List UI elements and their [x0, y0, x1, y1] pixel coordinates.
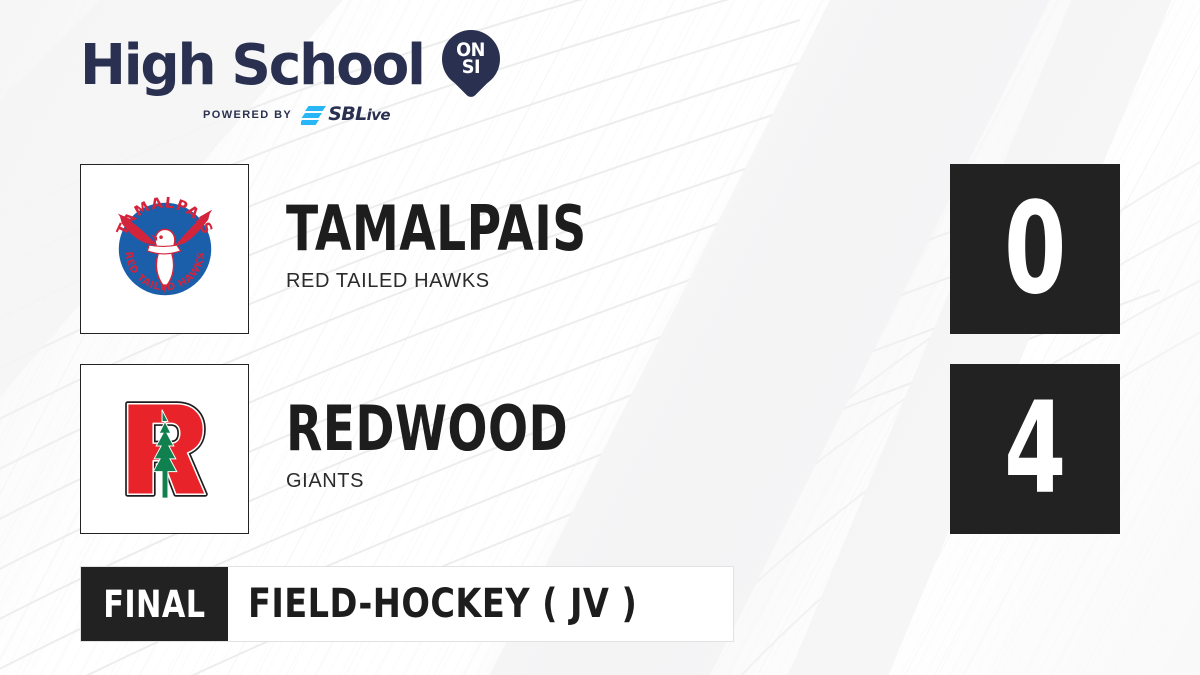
- scoreboard-graphic: High School ON SI POWERED BY SBLive: [0, 0, 1200, 675]
- brand-title-row: High School ON SI: [80, 34, 510, 98]
- brand-header: High School ON SI POWERED BY SBLive: [80, 34, 510, 134]
- team-info: REDWOOD GIANTS: [286, 396, 639, 492]
- pin-label-group: ON SI: [442, 30, 500, 88]
- team-score-box: 0: [950, 164, 1120, 334]
- tamalpais-red-tailed-hawks-logo: TAMALPAIS RED TAILED HAWKS: [106, 190, 224, 308]
- pin-label-si: SI: [462, 59, 480, 76]
- team-score: 4: [1004, 386, 1066, 512]
- status-badge: FINAL: [81, 567, 228, 641]
- powered-by-label: POWERED BY: [203, 109, 292, 121]
- sblive-word-main: SBL: [328, 103, 366, 125]
- status-badge-label: FINAL: [103, 586, 205, 623]
- team-name: REDWOOD: [286, 396, 568, 462]
- team-info: TAMALPAIS RED TAILED HAWKS: [286, 196, 662, 292]
- team-score: 0: [1004, 186, 1066, 312]
- team-score-box: 4: [950, 364, 1120, 534]
- team-logo-card: TAMALPAIS RED TAILED HAWKS: [80, 164, 249, 334]
- redwood-giants-logo: [106, 390, 224, 508]
- on-si-pin-icon: ON SI: [442, 30, 500, 102]
- sblive-s-icon: [301, 106, 327, 125]
- sblive-logo: SBLive: [301, 105, 390, 125]
- team-logo-card: [80, 364, 249, 534]
- powered-by-row: POWERED BY SBLive: [203, 105, 510, 125]
- sblive-word-suffix: ive: [367, 106, 390, 124]
- team-name: TAMALPAIS: [286, 196, 587, 262]
- team-mascot: RED TAILED HAWKS: [286, 270, 662, 292]
- game-status-bar: FINAL FIELD-HOCKEY ( JV ): [80, 566, 734, 642]
- sport-label: FIELD-HOCKEY ( JV ): [248, 584, 637, 624]
- sblive-wordmark: SBLive: [328, 105, 390, 125]
- sport-panel: FIELD-HOCKEY ( JV ): [228, 567, 733, 641]
- team-mascot: GIANTS: [286, 470, 639, 492]
- brand-title: High School: [80, 38, 424, 94]
